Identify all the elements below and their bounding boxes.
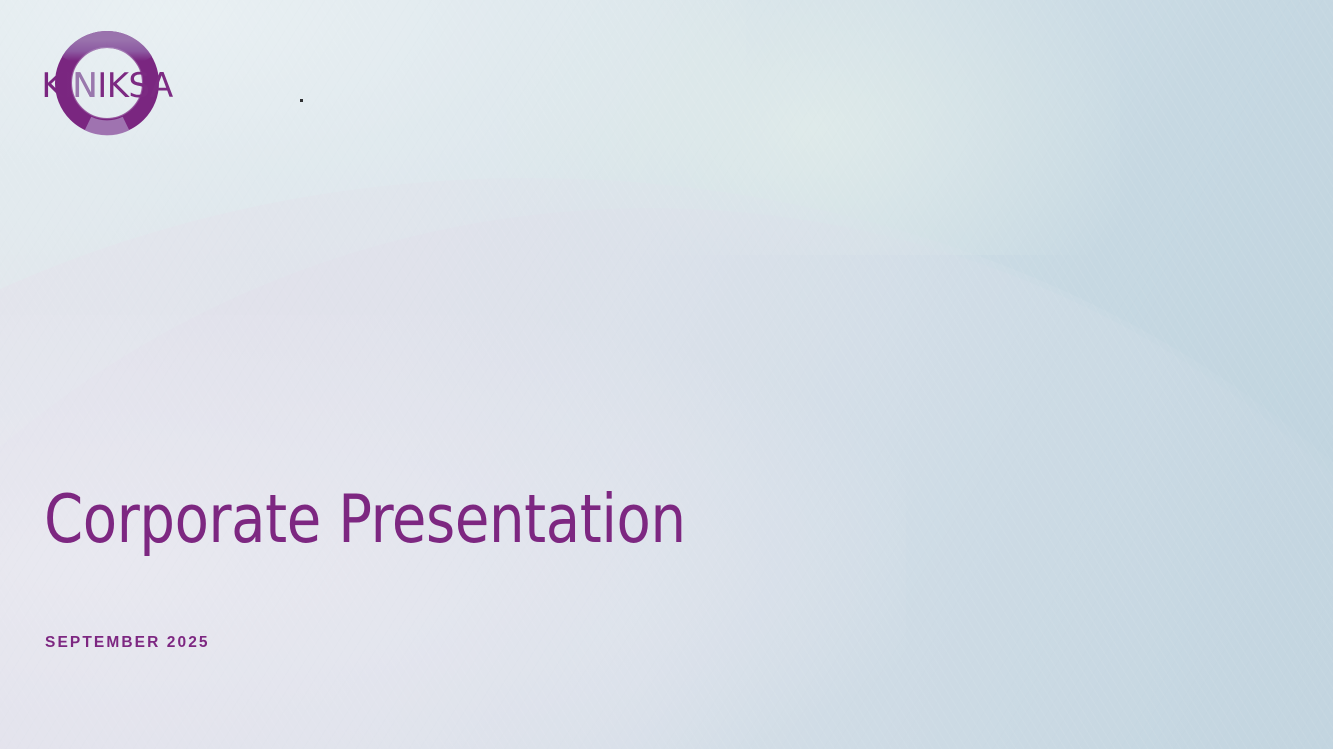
kiniksa-logo[interactable]: KINIKSA KINIKSA [40, 27, 176, 139]
kiniksa-wordmark: KINIKSA KINIKSA [41, 66, 173, 106]
svg-text:KINIKSA: KINIKSA [41, 66, 173, 106]
title-slide: KINIKSA KINIKSA Corporate Presentation S… [0, 0, 1333, 749]
kiniksa-ring-logo: KINIKSA KINIKSA [40, 27, 176, 139]
stray-mark [300, 99, 303, 102]
page-title: Corporate Presentation [44, 484, 686, 555]
slide-date: SEPTEMBER 2025 [45, 634, 210, 652]
